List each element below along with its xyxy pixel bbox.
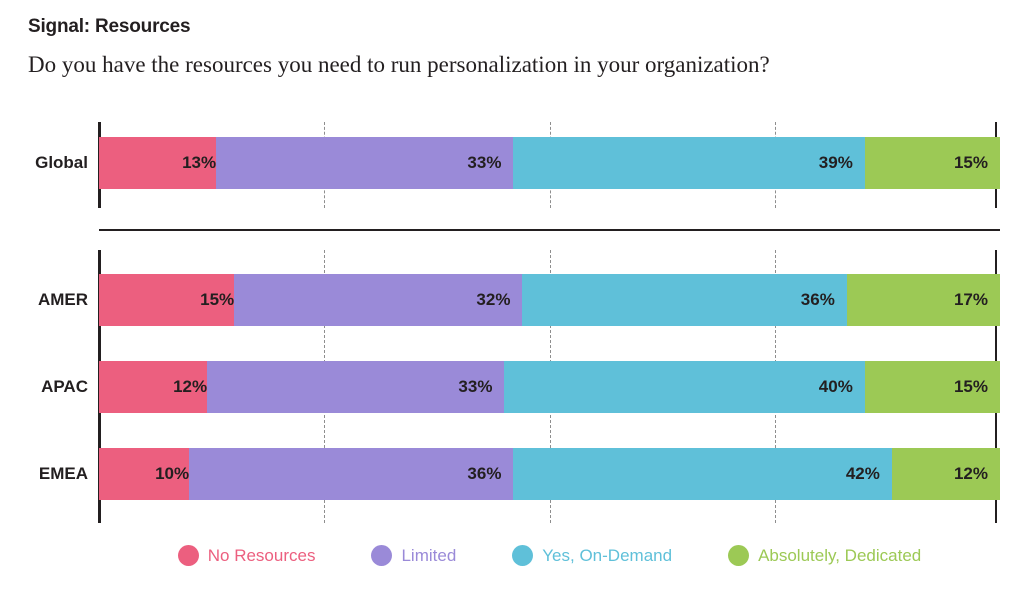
category-label-amer: AMER	[0, 274, 88, 326]
category-label-emea: EMEA	[0, 448, 88, 500]
bar-value-label: 40%	[819, 377, 865, 397]
chart-page: Signal: Resources Do you have the resour…	[0, 0, 1024, 595]
bar-value-label: 17%	[954, 290, 1000, 310]
bar-value-label: 33%	[467, 153, 513, 173]
legend-label: Yes, On-Demand	[542, 546, 672, 566]
legend-item-yes-on-demand[interactable]: Yes, On-Demand	[512, 545, 672, 566]
bar-row-emea[interactable]: 10%36%42%12%	[99, 448, 1000, 500]
bar-value-label: 39%	[819, 153, 865, 173]
bar-value-label: 42%	[846, 464, 892, 484]
bar-segment-amer-limited[interactable]: 32%	[234, 274, 522, 326]
bar-value-label: 10%	[155, 464, 189, 484]
bar-segment-global-absolutely-dedicated[interactable]: 15%	[865, 137, 1000, 189]
bar-segment-apac-yes-on-demand[interactable]: 40%	[504, 361, 864, 413]
bar-value-label: 15%	[954, 153, 1000, 173]
bar-segment-emea-absolutely-dedicated[interactable]: 12%	[892, 448, 1000, 500]
legend-item-limited[interactable]: Limited	[371, 545, 456, 566]
bar-segment-emea-no-resources[interactable]: 10%	[99, 448, 189, 500]
bar-segment-apac-no-resources[interactable]: 12%	[99, 361, 207, 413]
bar-value-label: 12%	[954, 464, 1000, 484]
bar-segment-global-limited[interactable]: 33%	[216, 137, 513, 189]
bar-segment-amer-yes-on-demand[interactable]: 36%	[522, 274, 846, 326]
legend-swatch-icon	[728, 545, 749, 566]
legend-swatch-icon	[178, 545, 199, 566]
bar-row-apac[interactable]: 12%33%40%15%	[99, 361, 1000, 413]
bar-segment-amer-no-resources[interactable]: 15%	[99, 274, 234, 326]
group-separator	[99, 229, 1000, 231]
bar-value-label: 36%	[801, 290, 847, 310]
bar-value-label: 15%	[954, 377, 1000, 397]
bar-segment-amer-absolutely-dedicated[interactable]: 17%	[847, 274, 1000, 326]
bar-value-label: 12%	[173, 377, 207, 397]
bar-value-label: 15%	[200, 290, 234, 310]
legend-swatch-icon	[371, 545, 392, 566]
bar-row-amer[interactable]: 15%32%36%17%	[99, 274, 1000, 326]
legend-label: Absolutely, Dedicated	[758, 546, 921, 566]
bar-row-global[interactable]: 13%33%39%15%	[99, 137, 1000, 189]
legend-label: No Resources	[208, 546, 316, 566]
bar-value-label: 36%	[467, 464, 513, 484]
bar-value-label: 33%	[458, 377, 504, 397]
bar-segment-emea-limited[interactable]: 36%	[189, 448, 513, 500]
bar-segment-apac-limited[interactable]: 33%	[207, 361, 504, 413]
bar-value-label: 32%	[476, 290, 522, 310]
bar-value-label: 13%	[182, 153, 216, 173]
bar-segment-global-yes-on-demand[interactable]: 39%	[513, 137, 864, 189]
legend-item-absolutely-dedicated[interactable]: Absolutely, Dedicated	[728, 545, 921, 566]
legend-label: Limited	[401, 546, 456, 566]
category-label-global: Global	[0, 137, 88, 189]
legend-item-no-resources[interactable]: No Resources	[178, 545, 316, 566]
bar-segment-global-no-resources[interactable]: 13%	[99, 137, 216, 189]
bar-segment-apac-absolutely-dedicated[interactable]: 15%	[865, 361, 1000, 413]
bar-segment-emea-yes-on-demand[interactable]: 42%	[513, 448, 891, 500]
chart-legend: No ResourcesLimitedYes, On-DemandAbsolut…	[99, 545, 1000, 566]
category-label-apac: APAC	[0, 361, 88, 413]
chart-plot-area: Global13%33%39%15%AMER15%32%36%17%APAC12…	[0, 0, 1024, 595]
legend-swatch-icon	[512, 545, 533, 566]
